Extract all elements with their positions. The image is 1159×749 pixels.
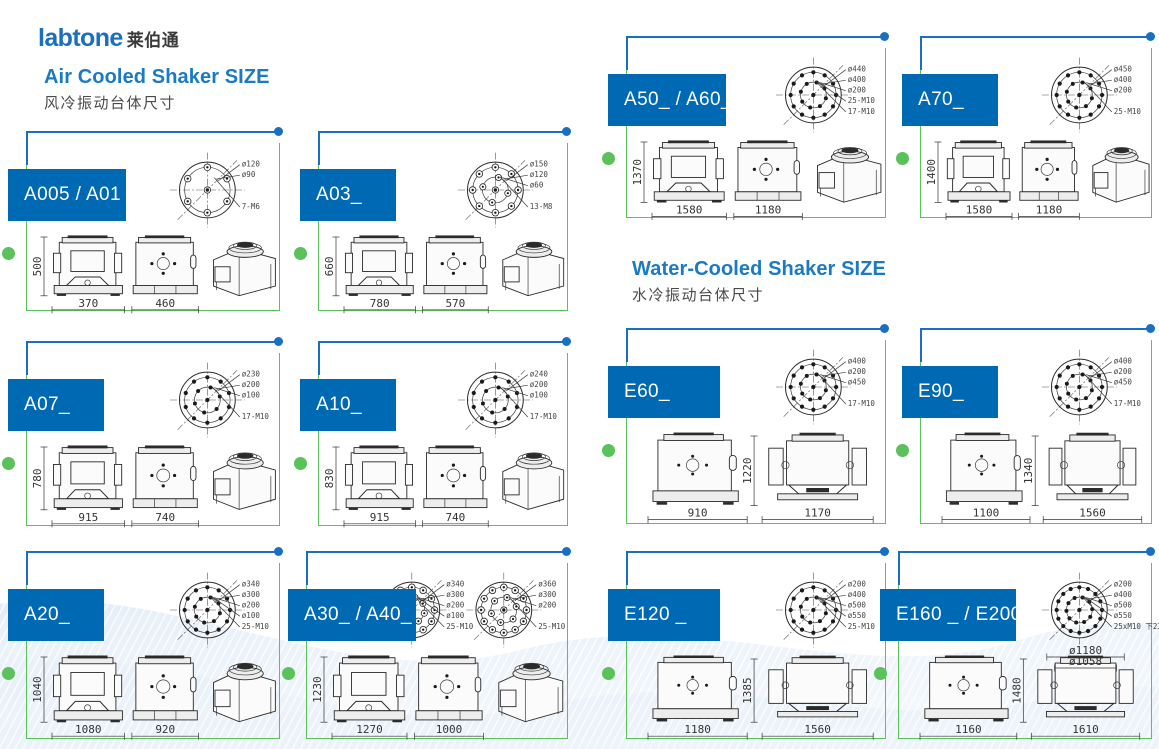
svg-text:ø200: ø200 [242,380,261,389]
svg-text:915: 915 [370,511,390,524]
svg-text:ø550: ø550 [1114,611,1133,620]
svg-text:ø120: ø120 [530,170,549,179]
product-card[interactable]: A30_ / A40_ [288,551,568,739]
svg-text:1580: 1580 [966,203,993,216]
bolt-pattern-diagram: ø450ø400ø20025-M10 [1034,52,1142,138]
card-accent-dot [2,667,15,680]
technical-drawing: 500 370 460 [26,229,268,305]
card-connector-horizontal [306,551,566,553]
svg-text:ø450: ø450 [1114,378,1133,387]
svg-text:915: 915 [78,511,98,524]
card-connector-vertical [306,551,308,585]
svg-text:1560: 1560 [1079,507,1106,520]
svg-text:ø300: ø300 [538,590,557,599]
card-connector-horizontal [318,341,566,343]
card-connector-vertical [26,551,28,585]
technical-drawing: 1370 1580 1180 [626,134,874,212]
product-card[interactable]: A20_ø340ø300ø200ø10025-M10 1040 1080 920 [8,551,280,739]
technical-drawing: 830 915 740 [318,439,556,520]
product-card[interactable]: A07_ø230ø200ø10017-M10 780 915 740 [8,341,280,526]
card-connector-dot [1146,547,1155,556]
card-connector-vertical [898,551,900,585]
card-connector-vertical [26,341,28,375]
card-connector-horizontal [626,328,884,330]
product-card[interactable]: A005 / A01 ø120ø907-M6 [8,131,280,311]
product-badge[interactable]: A07_ [8,379,104,431]
product-card[interactable]: E120 _ø200ø400ø500ø55025-M10 1385 1180 1… [608,551,886,739]
product-badge[interactable]: A20_ [8,589,104,641]
svg-text:460: 460 [155,297,175,310]
svg-text:25-M10: 25-M10 [848,96,876,105]
svg-text:370: 370 [78,297,98,310]
bolt-pattern-diagram: ø240ø200ø10017-M10 [450,357,558,443]
svg-text:ø400: ø400 [1114,590,1133,599]
svg-text:ø400: ø400 [848,590,867,599]
product-card[interactable]: A10_ø240ø200ø10017-M10 830 915 740 [300,341,568,526]
card-connector-dot [880,324,889,333]
card-connector-dot [562,547,571,556]
bolt-pattern-diagram: ø400ø200ø45017-M10 [1034,344,1142,430]
svg-text:1180: 1180 [684,723,711,736]
svg-text:17-M10: 17-M10 [1114,399,1142,408]
technical-drawing: 1040 1080 920 [26,649,268,733]
card-connector-vertical [626,328,628,362]
bolt-pattern-diagram: ø440ø400ø20025-M1017-M10 [768,52,876,138]
svg-text:1080: 1080 [75,723,102,736]
catalog-page: labtone莱伯通 Air Cooled Shaker SIZE 风冷振动台体… [0,0,1159,749]
svg-text:ø300: ø300 [242,590,261,599]
svg-text:ø340: ø340 [446,580,465,589]
svg-text:1230: 1230 [311,676,324,703]
technical-drawing: 1480 1160 1610 ø1180 ø1058 [898,649,1140,733]
svg-text:25-M10: 25-M10 [242,622,270,631]
svg-text:ø200: ø200 [446,601,465,610]
svg-text:1400: 1400 [925,159,938,186]
brand-chinese-name: 莱伯通 [127,26,180,51]
svg-text:ø200: ø200 [848,367,867,376]
technical-drawing: 660 780 570 [318,229,556,305]
product-card[interactable]: A03_ ø150ø120ø6013-M8 [300,131,568,311]
card-connector-horizontal [920,328,1150,330]
svg-text:ø200: ø200 [1114,580,1133,589]
svg-text:ø100: ø100 [242,611,261,620]
svg-text:1370: 1370 [631,159,644,186]
card-connector-horizontal [26,131,278,133]
technical-drawing: 780 915 740 [26,439,268,520]
card-accent-dot [2,247,15,260]
card-accent-dot [896,444,909,457]
svg-text:7-M6: 7-M6 [242,202,261,211]
svg-text:25-M10: 25-M10 [1114,107,1142,116]
svg-text:ø200: ø200 [538,601,557,610]
product-card[interactable]: A70_ø450ø400ø20025-M10 1400 1580 1180 [902,36,1152,218]
section-title-cn: 风冷振动台体尺寸 [44,92,270,113]
svg-text:ø500: ø500 [1114,601,1133,610]
svg-text:ø400: ø400 [1114,75,1133,84]
product-badge[interactable]: A70_ [902,74,998,126]
card-accent-dot [874,667,887,680]
section-title-en: Water-Cooled Shaker SIZE [632,258,886,281]
svg-text:910: 910 [688,507,708,520]
brand-wordmark: labtone [38,26,123,51]
svg-text:ø400: ø400 [848,75,867,84]
svg-text:ø360: ø360 [538,580,557,589]
svg-text:1610: 1610 [1072,723,1099,736]
svg-text:17-M10: 17-M10 [242,412,270,421]
bolt-pattern-diagram: ø150ø120ø6013-M8 [450,147,558,233]
product-card[interactable]: A50_ / A60_ø440ø400ø20025-M1017-M10 1370… [608,36,886,218]
svg-text:660: 660 [323,256,336,276]
svg-text:ø120: ø120 [242,160,261,169]
svg-text:1480: 1480 [1010,677,1023,704]
svg-text:ø200: ø200 [848,580,867,589]
card-accent-dot [2,457,15,470]
svg-text:920: 920 [155,723,175,736]
product-badge[interactable]: A30_ / A40_ [288,589,416,641]
card-connector-horizontal [318,131,566,133]
card-connector-dot [562,127,571,136]
svg-text:ø500: ø500 [848,601,867,610]
bolt-pattern-diagram: ø200ø400ø500ø55025xM10 下23 [1034,567,1142,653]
svg-text:1040: 1040 [31,676,44,703]
svg-text:ø340: ø340 [242,580,261,589]
svg-text:1580: 1580 [676,203,703,216]
card-connector-vertical [626,551,628,585]
svg-text:1340: 1340 [1022,458,1035,485]
svg-text:1180: 1180 [755,203,782,216]
svg-text:1100: 1100 [973,507,1000,520]
section-title-cn: 水冷振动台体尺寸 [632,284,886,305]
product-badge[interactable]: E60_ [608,366,720,418]
svg-text:ø440: ø440 [848,65,867,74]
svg-text:ø240: ø240 [530,370,549,379]
svg-text:25xM10 下23: 25xM10 下23 [1114,622,1159,631]
card-connector-vertical [26,131,28,165]
technical-drawing: 1385 1180 1560 [626,649,874,733]
svg-text:25-M10: 25-M10 [538,622,566,631]
product-badge[interactable]: A03_ [300,169,396,221]
svg-text:780: 780 [370,297,390,310]
card-connector-dot [562,337,571,346]
section-header-air-cooled: Air Cooled Shaker SIZE 风冷振动台体尺寸 [44,66,270,113]
card-connector-vertical [626,36,628,70]
svg-text:ø230: ø230 [242,370,261,379]
svg-text:ø450: ø450 [1114,65,1133,74]
card-connector-dot [274,547,283,556]
svg-text:ø450: ø450 [848,378,867,387]
product-badge[interactable]: E90_ [902,366,998,418]
svg-text:1000: 1000 [436,723,463,736]
svg-text:ø90: ø90 [242,170,256,179]
svg-text:1560: 1560 [804,723,831,736]
product-card[interactable]: E160 _ / E200_ø200ø400ø500ø55025xM10 下23… [880,551,1152,739]
card-accent-dot [282,667,295,680]
product-badge[interactable]: A005 / A01 [8,169,126,221]
card-connector-vertical [920,328,922,362]
card-accent-dot [602,152,615,165]
svg-text:ø200: ø200 [1114,86,1133,95]
svg-text:830: 830 [323,468,336,488]
card-accent-dot [896,152,909,165]
bolt-pattern-diagram: ø230ø200ø10017-M10 [162,357,270,443]
card-connector-dot [880,32,889,41]
card-connector-horizontal [26,341,278,343]
bolt-pattern-diagram: ø400ø200ø45017-M10 [768,344,876,430]
card-accent-dot [294,457,307,470]
svg-text:ø1058: ø1058 [1069,655,1102,668]
bolt-pattern-diagram: ø200ø400ø500ø55025-M10 [768,567,876,653]
card-connector-horizontal [920,36,1150,38]
svg-text:740: 740 [155,511,175,524]
svg-text:17-M10: 17-M10 [530,412,558,421]
svg-text:1220: 1220 [741,458,754,485]
svg-text:740: 740 [445,511,465,524]
svg-text:ø200: ø200 [1114,367,1133,376]
product-card[interactable]: E60_ø400ø200ø45017-M10 1220 910 1170 [608,328,886,524]
card-accent-dot [602,444,615,457]
svg-text:ø400: ø400 [1114,357,1133,366]
card-connector-dot [1146,324,1155,333]
card-connector-vertical [318,131,320,165]
svg-text:ø300: ø300 [446,590,465,599]
svg-text:1160: 1160 [955,723,982,736]
technical-drawing: 1230 1270 1000 [306,649,556,733]
card-connector-dot [274,337,283,346]
product-badge[interactable]: A50_ / A60_ [608,74,726,126]
section-header-water-cooled: Water-Cooled Shaker SIZE 水冷振动台体尺寸 [632,258,886,305]
product-badge[interactable]: E120 _ [608,589,720,641]
card-accent-dot [294,247,307,260]
brand-logo: labtone莱伯通 [38,26,179,51]
card-connector-horizontal [26,551,278,553]
product-badge[interactable]: A10_ [300,379,396,431]
card-connector-horizontal [626,551,884,553]
card-connector-vertical [318,341,320,375]
product-badge[interactable]: E160 _ / E200_ [880,589,1016,641]
technical-drawing: 1220 910 1170 [626,426,874,518]
card-connector-horizontal [626,36,884,38]
card-connector-dot [1146,32,1155,41]
svg-text:780: 780 [31,468,44,488]
svg-text:ø100: ø100 [242,391,261,400]
svg-text:ø150: ø150 [530,160,549,169]
svg-text:ø550: ø550 [848,611,867,620]
svg-text:ø60: ø60 [530,181,544,190]
card-connector-vertical [920,36,922,70]
svg-text:500: 500 [31,256,44,276]
svg-text:ø400: ø400 [848,357,867,366]
svg-text:17-M10: 17-M10 [848,107,876,116]
svg-text:ø200: ø200 [242,601,261,610]
svg-text:570: 570 [445,297,465,310]
svg-text:1385: 1385 [741,677,754,704]
svg-text:ø200: ø200 [530,380,549,389]
section-title-en: Air Cooled Shaker SIZE [44,66,270,89]
technical-drawing: 1400 1580 1180 [920,134,1140,212]
svg-text:1180: 1180 [1036,203,1063,216]
card-connector-dot [274,127,283,136]
bolt-pattern-diagram: ø340ø300ø200ø10025-M10 [162,567,270,653]
card-connector-horizontal [898,551,1150,553]
product-card[interactable]: E90_ø400ø200ø45017-M10 1340 1100 1560 [902,328,1152,524]
svg-text:ø100: ø100 [446,611,465,620]
bolt-pattern-diagram: ø120ø907-M6 [162,147,270,233]
svg-text:1270: 1270 [356,723,383,736]
card-accent-dot [602,667,615,680]
svg-text:25-M10: 25-M10 [848,622,876,631]
svg-text:1170: 1170 [804,507,831,520]
svg-text:ø200: ø200 [848,86,867,95]
bolt-pattern-diagram-b: ø360ø300ø20025-M10 [466,567,556,653]
svg-text:17-M10: 17-M10 [848,399,876,408]
svg-text:ø100: ø100 [530,391,549,400]
technical-drawing: 1340 1100 1560 [920,426,1140,518]
svg-text:13-M8: 13-M8 [530,202,553,211]
